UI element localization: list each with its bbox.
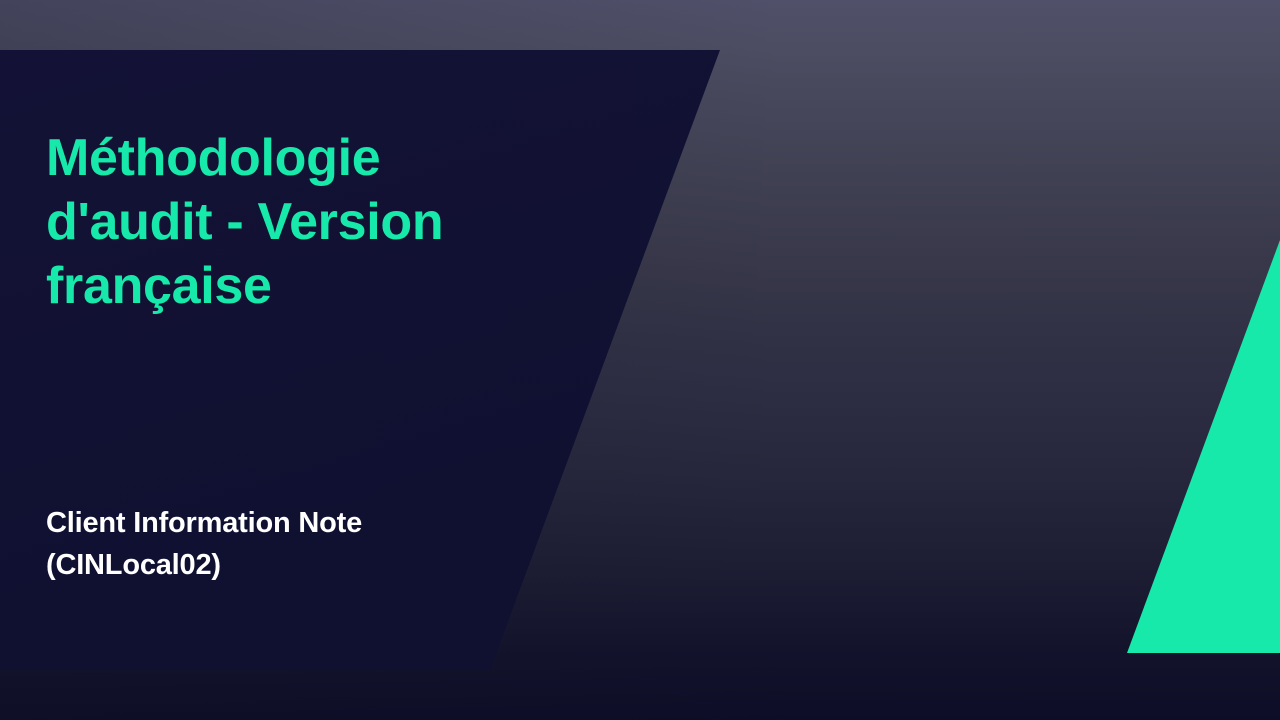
green-triangle-accent [1127, 240, 1280, 653]
slide-text-block: Méthodologie d'audit - Version française… [46, 0, 566, 720]
slide-canvas: Méthodologie d'audit - Version française… [0, 0, 1280, 720]
slide-subtitle: Client Information Note (CINLocal02) [46, 502, 516, 586]
slide-title: Méthodologie d'audit - Version française [46, 126, 516, 318]
